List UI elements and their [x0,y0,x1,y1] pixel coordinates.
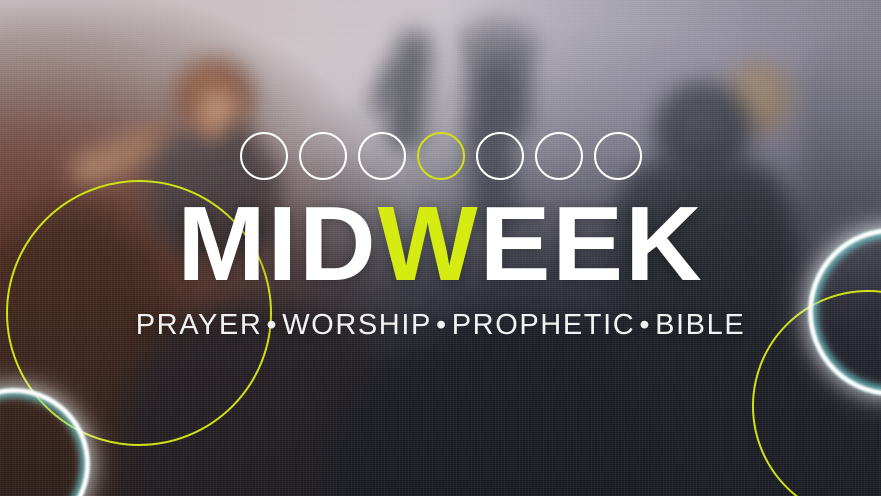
tagline-item-bible: BIBLE [655,309,745,341]
tagline-item-prayer: PRAYER [136,309,263,341]
circle-4-accent-icon [417,132,465,180]
wordmark-prefix: MID [177,185,377,303]
circle-3-icon [358,132,406,180]
circle-row [0,132,881,180]
wordmark-accent-letter: W [378,185,480,303]
glow-ring-bottom-left-icon [0,388,90,496]
tagline-separator: • [432,309,452,341]
tagline: PRAYER•WORSHIP•PROPHETIC•BIBLE [0,308,881,342]
circle-6-icon [535,132,583,180]
circle-7-icon [594,132,642,180]
tagline-item-prophetic: PROPHETIC [452,309,636,341]
circle-1-icon [240,132,288,180]
wordmark-suffix: EEK [480,185,704,303]
midweek-title-card: MIDWEEK PRAYER•WORSHIP•PROPHETIC•BIBLE [0,0,881,496]
wordmark-midweek: MIDWEEK [0,194,881,294]
circle-5-icon [476,132,524,180]
tagline-separator: • [635,309,655,341]
tagline-item-worship: WORSHIP [282,309,432,341]
circle-2-icon [299,132,347,180]
tagline-separator: • [262,309,282,341]
